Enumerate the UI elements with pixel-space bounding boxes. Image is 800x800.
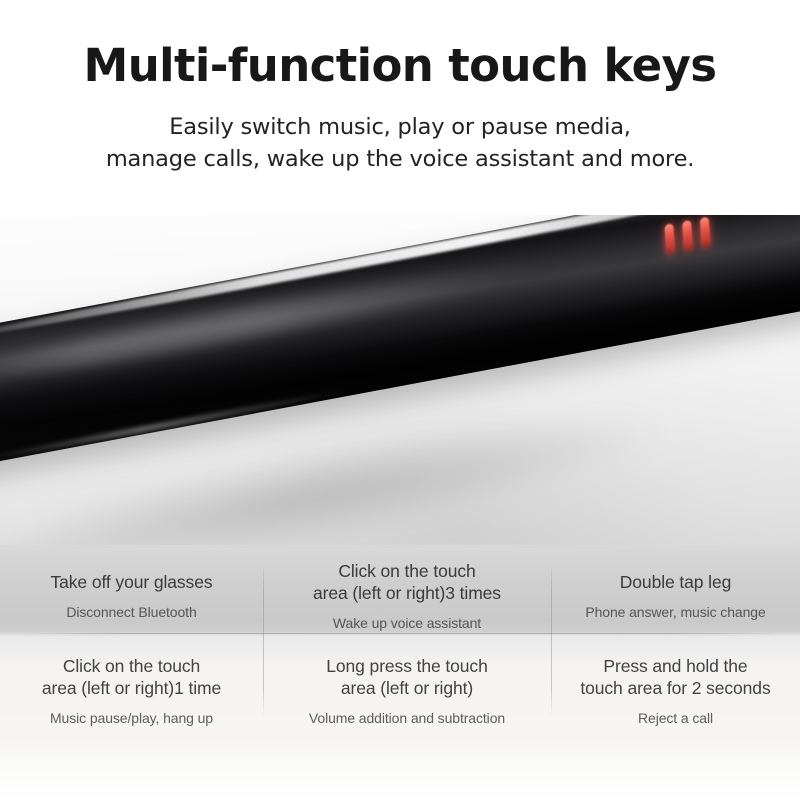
feature-title: Double tap leg [620,571,731,593]
feature-title: Take off your glasses [51,571,213,593]
feature-title-line-1: Click on the touch [338,561,475,581]
feature-title-line-1: Click on the touch [63,656,200,676]
gesture-feature-table: Take off your glasses Disconnect Bluetoo… [0,545,800,800]
page-title: Multi-function touch keys [0,0,800,91]
led-indicator-bar-3 [700,216,711,248]
feature-description: Disconnect Bluetooth [66,603,196,621]
feature-title-line-1: Long press the touch [326,656,487,676]
feature-description: Phone answer, music change [585,603,765,621]
feature-description: Volume addition and subtraction [309,709,505,727]
feature-cell-long-press: Long press the touch area (left or right… [263,633,551,743]
feature-title-line-2: area (left or right)1 time [42,678,221,698]
feature-cell-take-off-glasses: Take off your glasses Disconnect Bluetoo… [0,545,263,633]
subtitle-line-2: manage calls, wake up the voice assistan… [0,143,800,176]
feature-cell-press-hold-2s: Press and hold the touch area for 2 seco… [551,633,800,743]
header-section: Multi-function touch keys Easily switch … [0,0,800,215]
led-indicator-bar-1 [665,223,676,255]
feature-description: Music pause/play, hang up [50,709,213,727]
feature-title: Long press the touch area (left or right… [326,655,487,700]
feature-title: Click on the touch area (left or right)3… [313,560,501,605]
feature-title-line-1: Press and hold the [603,656,747,676]
feature-description: Wake up voice assistant [333,614,481,632]
feature-title-line-2: touch area for 2 seconds [580,678,770,698]
product-photo [0,215,800,545]
feature-title: Press and hold the touch area for 2 seco… [580,655,770,700]
feature-cell-double-tap-leg: Double tap leg Phone answer, music chang… [551,545,800,633]
feature-title-line-2: area (left or right) [341,678,473,698]
product-feature-page: Multi-function touch keys Easily switch … [0,0,800,800]
feature-cell-triple-tap: Click on the touch area (left or right)3… [263,545,551,633]
feature-title-line-2: area (left or right)3 times [313,583,501,603]
feature-cell-single-tap: Click on the touch area (left or right)1… [0,633,263,743]
subtitle-line-1: Easily switch music, play or pause media… [0,111,800,144]
led-indicator-bar-2 [682,220,693,252]
page-subtitle: Easily switch music, play or pause media… [0,91,800,177]
led-indicator-group [665,216,711,254]
feature-description: Reject a call [638,709,713,727]
feature-title: Click on the touch area (left or right)1… [42,655,221,700]
